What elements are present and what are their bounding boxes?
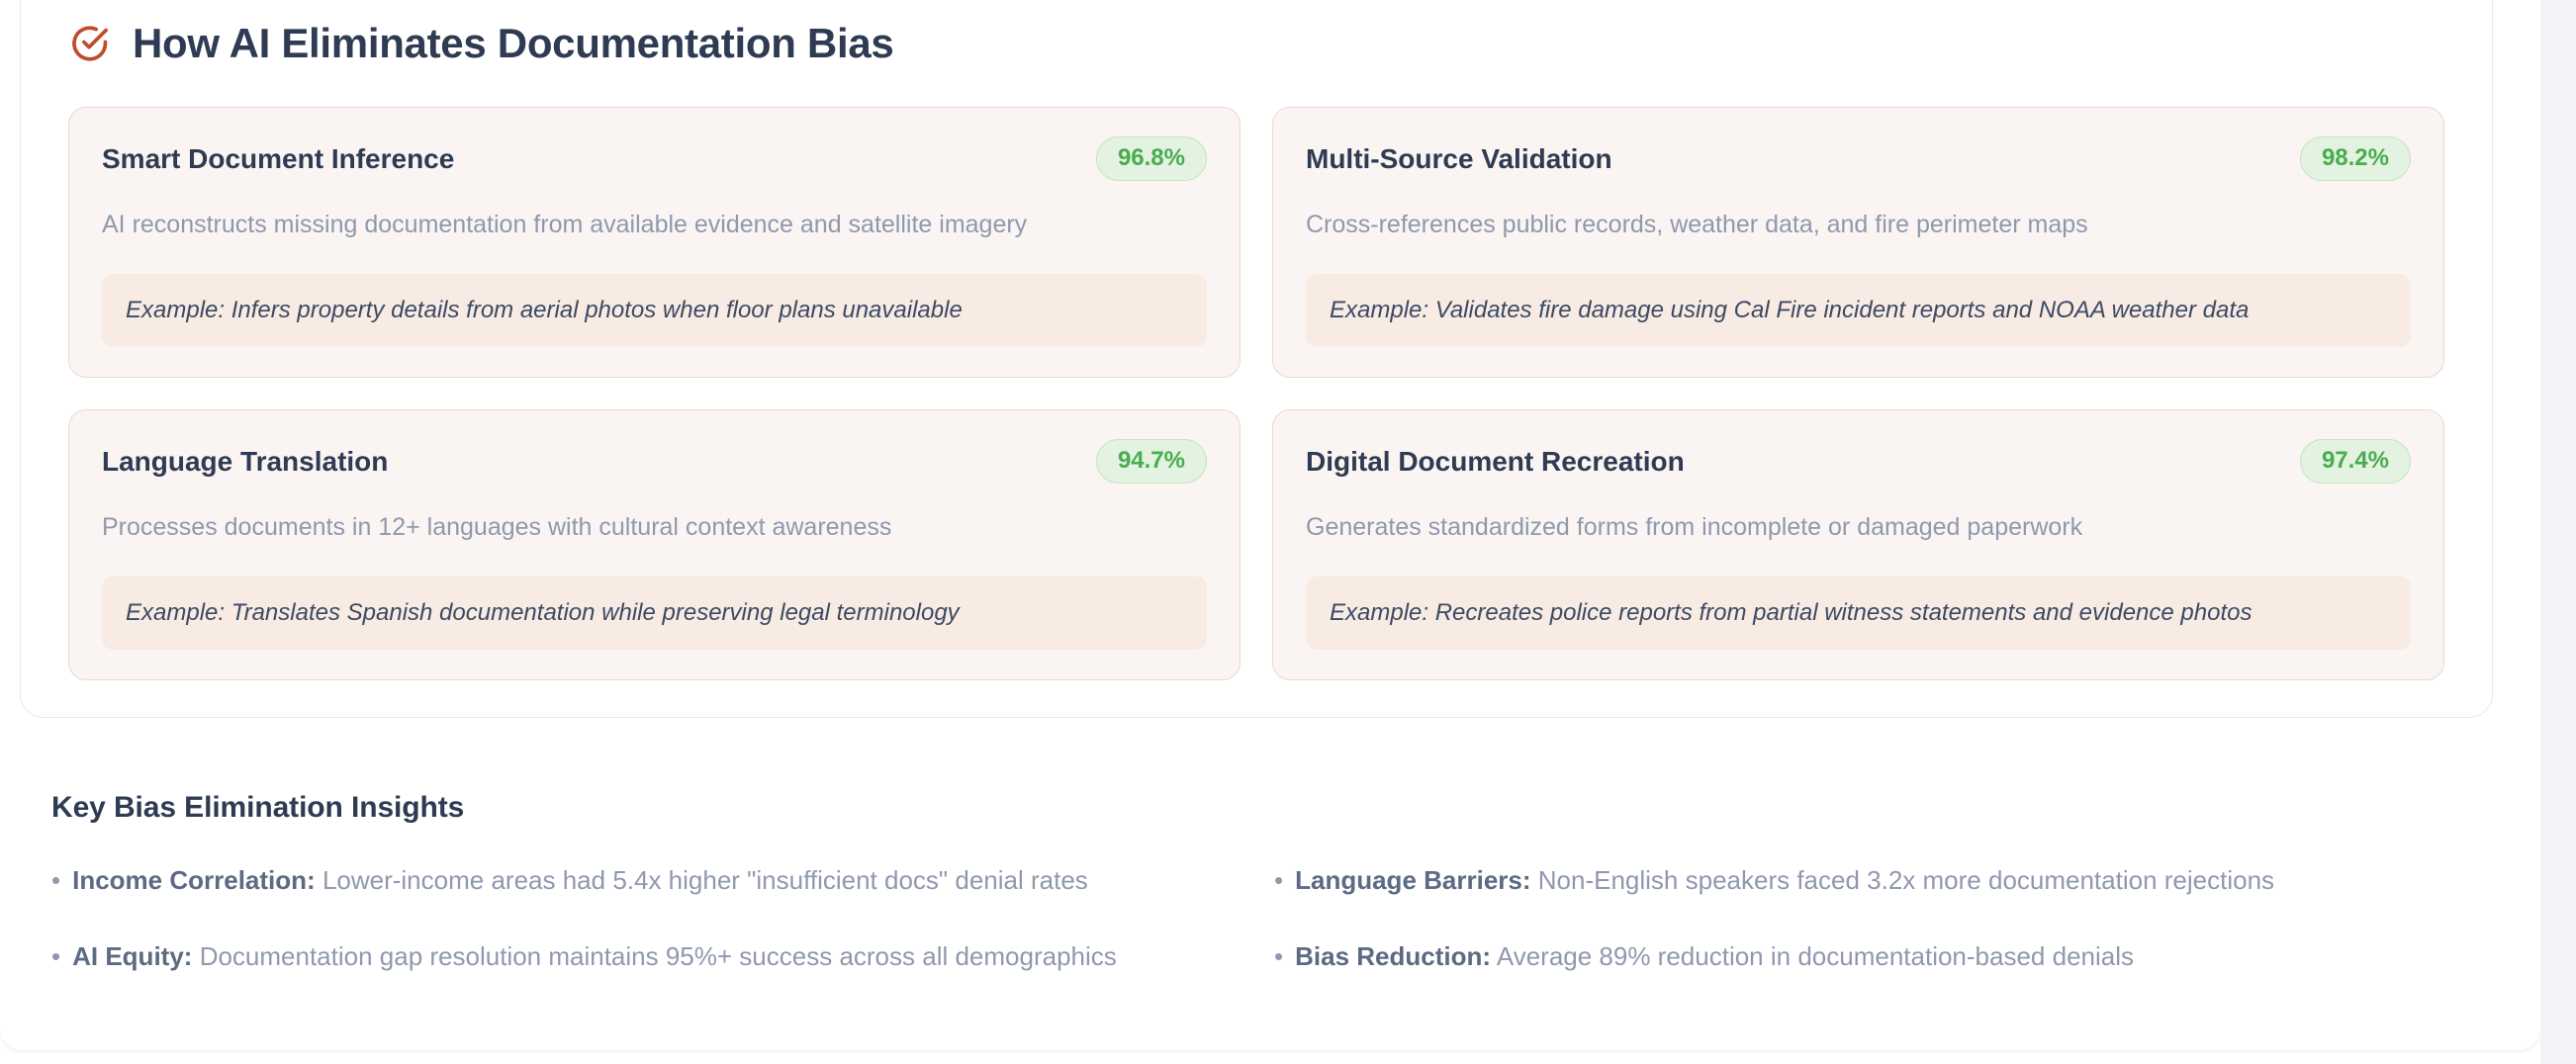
insight-text: Lower-income areas had 5.4x higher "insu… — [322, 865, 1088, 895]
ai-bias-section-card: How AI Eliminates Documentation Bias Sma… — [20, 0, 2493, 718]
insight-item-ai-equity: • AI Equity: Documentation gap resolutio… — [51, 940, 1242, 973]
feature-description: Processes documents in 12+ languages wit… — [102, 511, 1207, 545]
feature-card-header: Language Translation 94.7% — [102, 439, 1207, 484]
feature-title: Language Translation — [102, 445, 388, 479]
accuracy-badge: 97.4% — [2300, 439, 2411, 484]
feature-title: Smart Document Inference — [102, 142, 454, 176]
accuracy-badge: 96.8% — [1096, 136, 1207, 181]
feature-example: Example: Infers property details from ae… — [102, 274, 1207, 347]
insight-label: AI Equity: — [72, 941, 192, 971]
feature-card-grid: Smart Document Inference 96.8% AI recons… — [21, 64, 2492, 680]
feature-card-header: Digital Document Recreation 97.4% — [1306, 439, 2411, 484]
feature-example: Example: Recreates police reports from p… — [1306, 576, 2411, 650]
feature-card-header: Smart Document Inference 96.8% — [102, 136, 1207, 181]
bullet-icon: • — [51, 867, 60, 893]
feature-title: Digital Document Recreation — [1306, 445, 1685, 479]
check-circle-icon — [68, 23, 110, 64]
insight-item-language-barriers: • Language Barriers: Non-English speaker… — [1274, 864, 2465, 897]
insight-item-bias-reduction: • Bias Reduction: Average 89% reduction … — [1274, 940, 2465, 973]
insight-item-income-correlation: • Income Correlation: Lower-income areas… — [51, 864, 1242, 897]
bullet-icon: • — [1274, 867, 1283, 893]
insight-label: Bias Reduction: — [1295, 941, 1491, 971]
key-insights-section: Key Bias Elimination Insights • Income C… — [51, 791, 2465, 972]
screenshot-viewport: How AI Eliminates Documentation Bias Sma… — [0, 0, 2576, 1064]
insight-text: Non-English speakers faced 3.2x more doc… — [1538, 865, 2274, 895]
feature-card-multi-source-validation[interactable]: Multi-Source Validation 98.2% Cross-refe… — [1272, 107, 2444, 378]
section-header: How AI Eliminates Documentation Bias — [21, 0, 2492, 64]
page-title: How AI Eliminates Documentation Bias — [133, 23, 893, 64]
feature-card-smart-document-inference[interactable]: Smart Document Inference 96.8% AI recons… — [68, 107, 1241, 378]
feature-card-header: Multi-Source Validation 98.2% — [1306, 136, 2411, 181]
insight-label: Income Correlation: — [72, 865, 316, 895]
accuracy-badge: 98.2% — [2300, 136, 2411, 181]
feature-example: Example: Translates Spanish documentatio… — [102, 576, 1207, 650]
insight-label: Language Barriers: — [1295, 865, 1530, 895]
feature-description: Cross-references public records, weather… — [1306, 209, 2411, 242]
accuracy-badge: 94.7% — [1096, 439, 1207, 484]
insight-text: Average 89% reduction in documentation-b… — [1497, 941, 2134, 971]
vertical-scrollbar[interactable] — [2540, 0, 2576, 1064]
feature-description: AI reconstructs missing documentation fr… — [102, 209, 1207, 242]
insights-title: Key Bias Elimination Insights — [51, 791, 2465, 825]
bullet-icon: • — [1274, 943, 1283, 969]
feature-card-digital-document-recreation[interactable]: Digital Document Recreation 97.4% Genera… — [1272, 409, 2444, 680]
feature-example: Example: Validates fire damage using Cal… — [1306, 274, 2411, 347]
insights-grid: • Income Correlation: Lower-income areas… — [51, 864, 2465, 972]
page-panel: How AI Eliminates Documentation Bias Sma… — [0, 0, 2540, 1050]
feature-title: Multi-Source Validation — [1306, 142, 1612, 176]
bullet-icon: • — [51, 943, 60, 969]
feature-card-language-translation[interactable]: Language Translation 94.7% Processes doc… — [68, 409, 1241, 680]
insight-text: Documentation gap resolution maintains 9… — [200, 941, 1117, 971]
feature-description: Generates standardized forms from incomp… — [1306, 511, 2411, 545]
